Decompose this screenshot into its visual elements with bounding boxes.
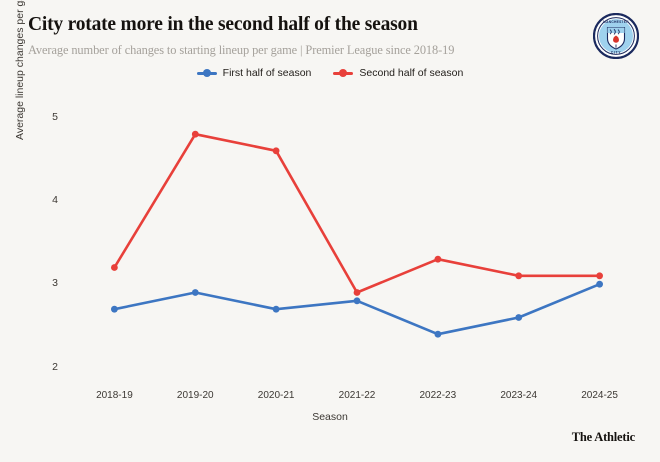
data-point-marker[interactable] <box>111 264 118 271</box>
data-point-marker[interactable] <box>192 289 199 296</box>
data-point-marker[interactable] <box>111 306 118 313</box>
data-point-marker[interactable] <box>354 289 361 296</box>
data-point-marker[interactable] <box>435 256 442 263</box>
series-lines <box>0 0 660 462</box>
series-line <box>114 134 599 292</box>
data-point-marker[interactable] <box>354 297 361 304</box>
data-point-marker[interactable] <box>515 314 522 321</box>
data-point-marker[interactable] <box>596 272 603 279</box>
data-point-marker[interactable] <box>435 331 442 338</box>
chart-card: City rotate more in the second half of t… <box>0 0 660 462</box>
data-point-marker[interactable] <box>273 147 280 154</box>
footer-brand: The Athletic <box>572 430 635 445</box>
plot-area: Average lineup changes per game 2345 201… <box>0 0 660 462</box>
data-point-marker[interactable] <box>192 131 199 138</box>
x-axis-title: Season <box>0 411 660 423</box>
data-point-marker[interactable] <box>515 272 522 279</box>
data-point-marker[interactable] <box>596 281 603 288</box>
data-point-marker[interactable] <box>273 306 280 313</box>
